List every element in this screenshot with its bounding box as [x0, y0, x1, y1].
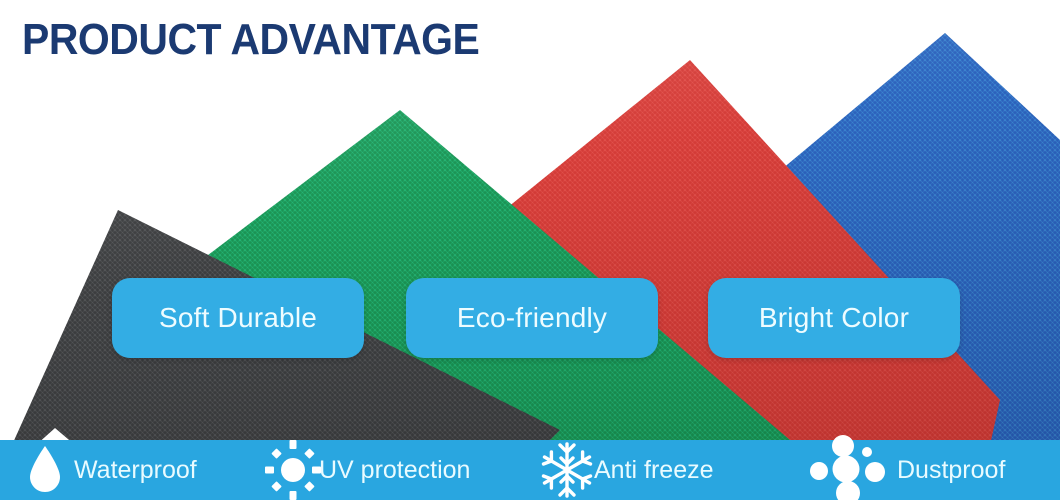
feature-pill-label: Bright Color: [759, 302, 909, 334]
feature-pill-label: Eco-friendly: [457, 302, 607, 334]
feature-item-label: Waterproof: [74, 456, 197, 485]
feature-pill-soft-durable[interactable]: Soft Durable: [112, 278, 364, 358]
sun-icon: [265, 440, 315, 500]
feature-item-waterproof[interactable]: Waterproof: [20, 440, 197, 500]
feature-item-label: Dustproof: [897, 456, 1005, 485]
feature-bar: Waterproof U: [0, 440, 1060, 500]
black-sheet-shading: [0, 0, 1060, 500]
snowflake-icon: [540, 440, 590, 500]
water-drop-icon: [20, 440, 70, 500]
product-advantage-banner: PRODUCT ADVANTAGE Soft Durable Eco-frien…: [0, 0, 1060, 500]
feature-item-uv-protection[interactable]: UV protection: [265, 440, 470, 500]
page-title: PRODUCT ADVANTAGE: [22, 10, 479, 70]
feature-item-label: UV protection: [319, 456, 470, 485]
feature-item-anti-freeze[interactable]: Anti freeze: [540, 440, 714, 500]
feature-pill-label: Soft Durable: [159, 302, 317, 334]
feature-pill-bright-color[interactable]: Bright Color: [708, 278, 960, 358]
feature-item-label: Anti freeze: [594, 456, 714, 485]
dust-particles-icon: [805, 440, 893, 500]
black-tarpaulin-sheet: [0, 0, 1060, 500]
feature-item-dustproof[interactable]: Dustproof: [805, 440, 1005, 500]
feature-pill-eco-friendly[interactable]: Eco-friendly: [406, 278, 658, 358]
